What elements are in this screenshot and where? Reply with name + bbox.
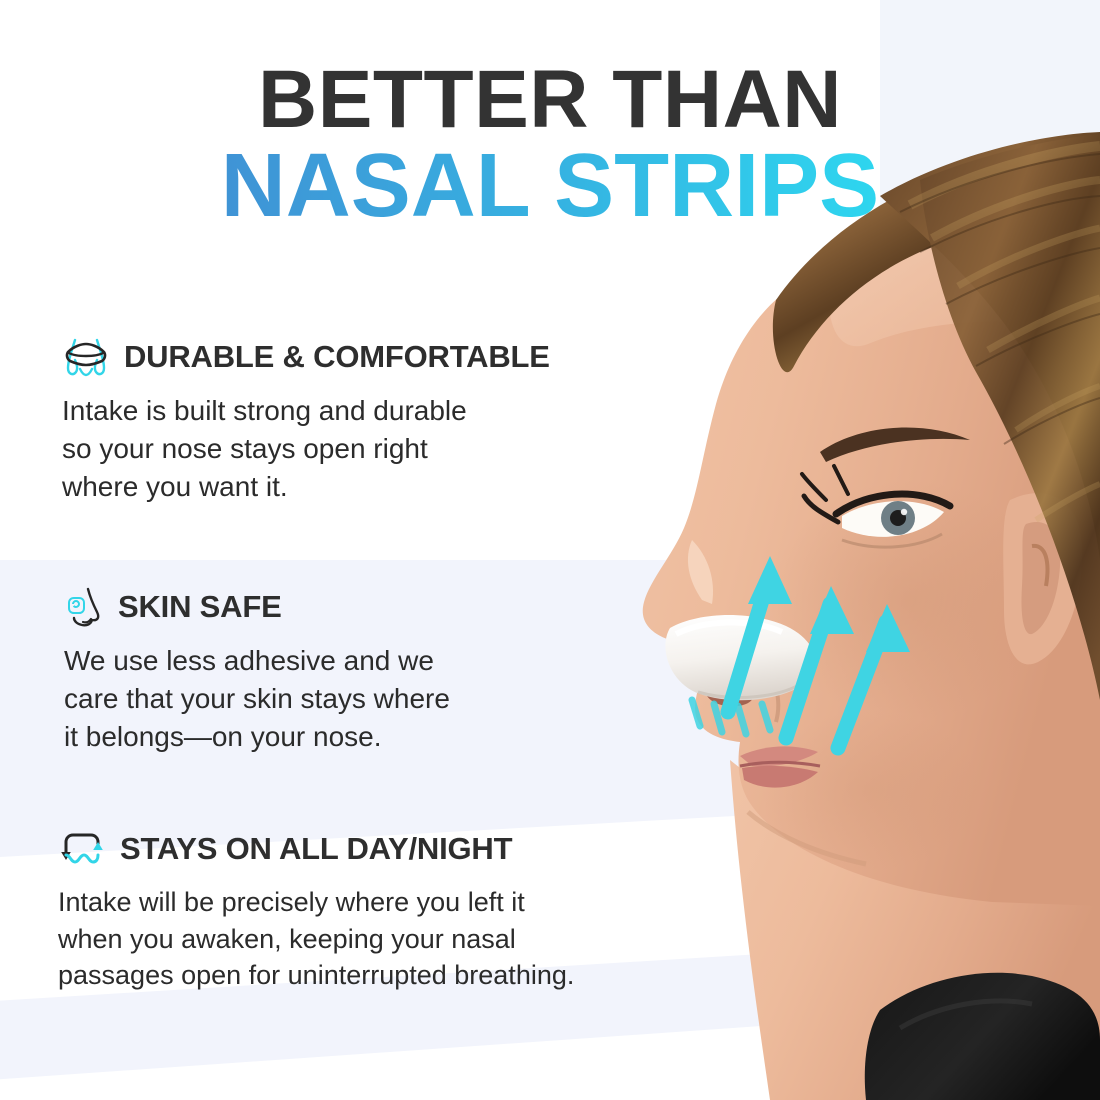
feature-title: DURABLE & COMFORTABLE	[124, 339, 550, 375]
feature-body: Intake is built strong and durable so yo…	[62, 392, 662, 506]
feature-title: STAYS ON ALL DAY/NIGHT	[120, 831, 512, 867]
feature-item-skin-safe: SKIN SAFE We use less adhesive and we ca…	[64, 586, 584, 756]
feature-title: SKIN SAFE	[118, 589, 282, 625]
feature-body: Intake will be precisely where you left …	[58, 884, 718, 994]
infographic-canvas: BETTER THAN NASAL STRIPS DURA	[0, 0, 1100, 1100]
nose-dilator-front-icon	[62, 336, 110, 378]
feature-heading: SKIN SAFE	[64, 586, 584, 628]
feature-body: We use less adhesive and we care that yo…	[64, 642, 584, 756]
feature-item-stays-on-all-day-night: STAYS ON ALL DAY/NIGHT Intake will be pr…	[58, 828, 718, 994]
feature-heading: STAYS ON ALL DAY/NIGHT	[58, 828, 718, 870]
all-day-night-loop-icon	[58, 828, 106, 870]
feature-heading: DURABLE & COMFORTABLE	[62, 336, 662, 378]
nose-profile-skin-safe-icon	[64, 586, 104, 628]
feature-item-durable-comfortable: DURABLE & COMFORTABLE Intake is built st…	[62, 336, 662, 506]
